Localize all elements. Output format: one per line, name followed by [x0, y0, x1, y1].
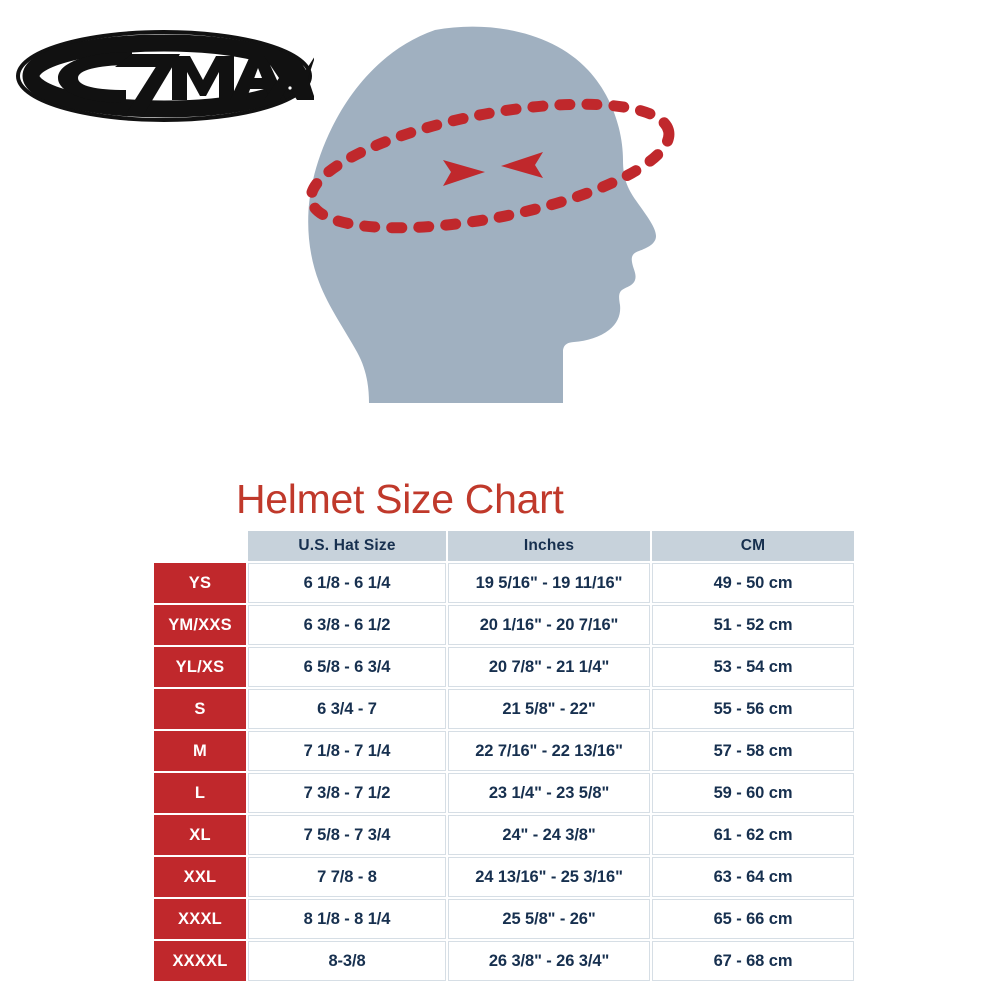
table-row: XXL7 7/8 - 824 13/16" - 25 3/16"63 - 64 … — [154, 857, 854, 897]
inches-cell: 20 1/16" - 20 7/16" — [448, 605, 650, 645]
hat-size-cell: 6 3/8 - 6 1/2 — [248, 605, 446, 645]
size-label-cell: YS — [154, 563, 246, 603]
table-row: YL/XS6 5/8 - 6 3/420 7/8" - 21 1/4"53 - … — [154, 647, 854, 687]
size-label-cell: XXXXL — [154, 941, 246, 981]
table-row: L7 3/8 - 7 1/223 1/4" - 23 5/8"59 - 60 c… — [154, 773, 854, 813]
cm-cell: 51 - 52 cm — [652, 605, 854, 645]
cm-cell: 55 - 56 cm — [652, 689, 854, 729]
hat-size-cell: 8 1/8 - 8 1/4 — [248, 899, 446, 939]
hat-size-cell: 6 1/8 - 6 1/4 — [248, 563, 446, 603]
inches-cell: 25 5/8" - 26" — [448, 899, 650, 939]
inches-cell: 20 7/8" - 21 1/4" — [448, 647, 650, 687]
hat-size-cell: 7 5/8 - 7 3/4 — [248, 815, 446, 855]
size-label-cell: L — [154, 773, 246, 813]
hat-size-cell: 7 1/8 - 7 1/4 — [248, 731, 446, 771]
size-label-cell: YM/XXS — [154, 605, 246, 645]
cm-cell: 61 - 62 cm — [652, 815, 854, 855]
inches-cell: 19 5/16" - 19 11/16" — [448, 563, 650, 603]
hat-size-cell: 6 5/8 - 6 3/4 — [248, 647, 446, 687]
cm-cell: 63 - 64 cm — [652, 857, 854, 897]
page-title: Helmet Size Chart — [236, 477, 564, 521]
helmet-size-table-container: U.S. Hat Size Inches CM YS6 1/8 - 6 1/41… — [152, 529, 850, 983]
size-label-cell: M — [154, 731, 246, 771]
hat-size-cell: 7 7/8 - 8 — [248, 857, 446, 897]
inches-cell: 21 5/8" - 22" — [448, 689, 650, 729]
table-header: U.S. Hat Size Inches CM — [154, 531, 854, 561]
gmax-logo — [14, 26, 314, 126]
size-label-cell: XL — [154, 815, 246, 855]
inches-cell: 24 13/16" - 25 3/16" — [448, 857, 650, 897]
inches-cell: 24" - 24 3/8" — [448, 815, 650, 855]
size-label-cell: S — [154, 689, 246, 729]
cm-cell: 57 - 58 cm — [652, 731, 854, 771]
cm-cell: 65 - 66 cm — [652, 899, 854, 939]
table-row: M7 1/8 - 7 1/422 7/16" - 22 13/16"57 - 5… — [154, 731, 854, 771]
cm-cell: 49 - 50 cm — [652, 563, 854, 603]
table-header-row: U.S. Hat Size Inches CM — [154, 531, 854, 561]
cm-cell: 59 - 60 cm — [652, 773, 854, 813]
header-cell-hat-size: U.S. Hat Size — [248, 531, 446, 561]
cm-cell: 53 - 54 cm — [652, 647, 854, 687]
size-label-cell: YL/XS — [154, 647, 246, 687]
head-profile-measurement-diagram — [285, 18, 715, 448]
helmet-size-table: U.S. Hat Size Inches CM YS6 1/8 - 6 1/41… — [152, 529, 856, 983]
header-cell-inches: Inches — [448, 531, 650, 561]
head-diagram-svg — [285, 18, 715, 448]
hat-size-cell: 7 3/8 - 7 1/2 — [248, 773, 446, 813]
table-row: YS6 1/8 - 6 1/419 5/16" - 19 11/16"49 - … — [154, 563, 854, 603]
table-body: YS6 1/8 - 6 1/419 5/16" - 19 11/16"49 - … — [154, 563, 854, 981]
size-label-cell: XXL — [154, 857, 246, 897]
hat-size-cell: 6 3/4 - 7 — [248, 689, 446, 729]
table-row: YM/XXS6 3/8 - 6 1/220 1/16" - 20 7/16"51… — [154, 605, 854, 645]
inches-cell: 22 7/16" - 22 13/16" — [448, 731, 650, 771]
table-row: XL7 5/8 - 7 3/424" - 24 3/8"61 - 62 cm — [154, 815, 854, 855]
size-label-cell: XXXL — [154, 899, 246, 939]
inches-cell: 26 3/8" - 26 3/4" — [448, 941, 650, 981]
table-row: XXXL8 1/8 - 8 1/425 5/8" - 26"65 - 66 cm — [154, 899, 854, 939]
table-row: XXXXL8-3/826 3/8" - 26 3/4"67 - 68 cm — [154, 941, 854, 981]
table-row: S6 3/4 - 721 5/8" - 22"55 - 56 cm — [154, 689, 854, 729]
cm-cell: 67 - 68 cm — [652, 941, 854, 981]
header-cell-cm: CM — [652, 531, 854, 561]
header-cell-blank — [154, 531, 246, 561]
gmax-logo-svg — [14, 26, 314, 126]
inches-cell: 23 1/4" - 23 5/8" — [448, 773, 650, 813]
hat-size-cell: 8-3/8 — [248, 941, 446, 981]
